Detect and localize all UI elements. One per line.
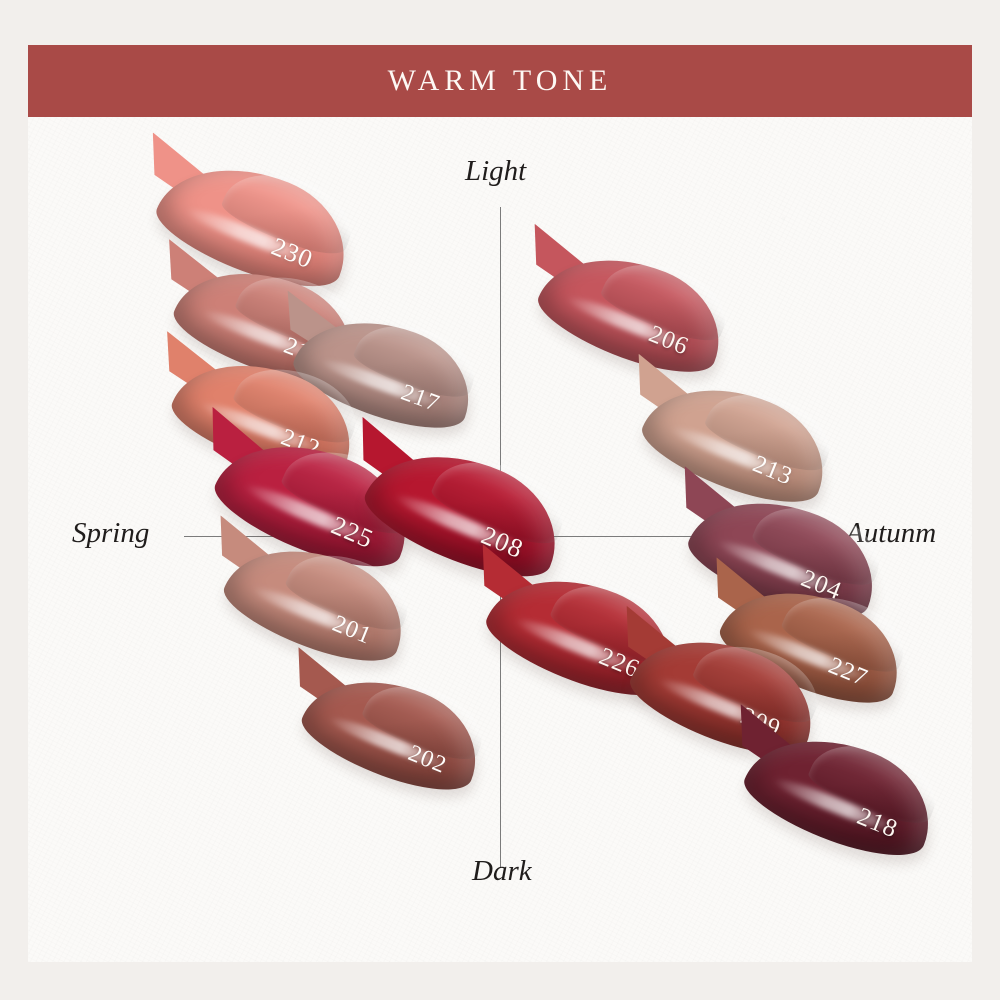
page-title: WARM TONE	[388, 64, 613, 98]
lipstick-swatch[interactable]: 206	[529, 232, 738, 391]
axis-label-spring: Spring	[72, 517, 149, 550]
swatch-canvas: Light Dark Spring Autunm 230211217212206…	[28, 117, 972, 962]
axis-label-dark: Dark	[472, 855, 532, 888]
lipstick-swatch[interactable]: 218	[735, 712, 948, 874]
shade-map-poster: WARM TONE Light Dark Spring Autunm 23021…	[0, 0, 1000, 1000]
lipstick-swatch[interactable]: 202	[293, 655, 494, 808]
header-banner: WARM TONE	[28, 45, 972, 117]
axis-label-light: Light	[465, 155, 526, 188]
